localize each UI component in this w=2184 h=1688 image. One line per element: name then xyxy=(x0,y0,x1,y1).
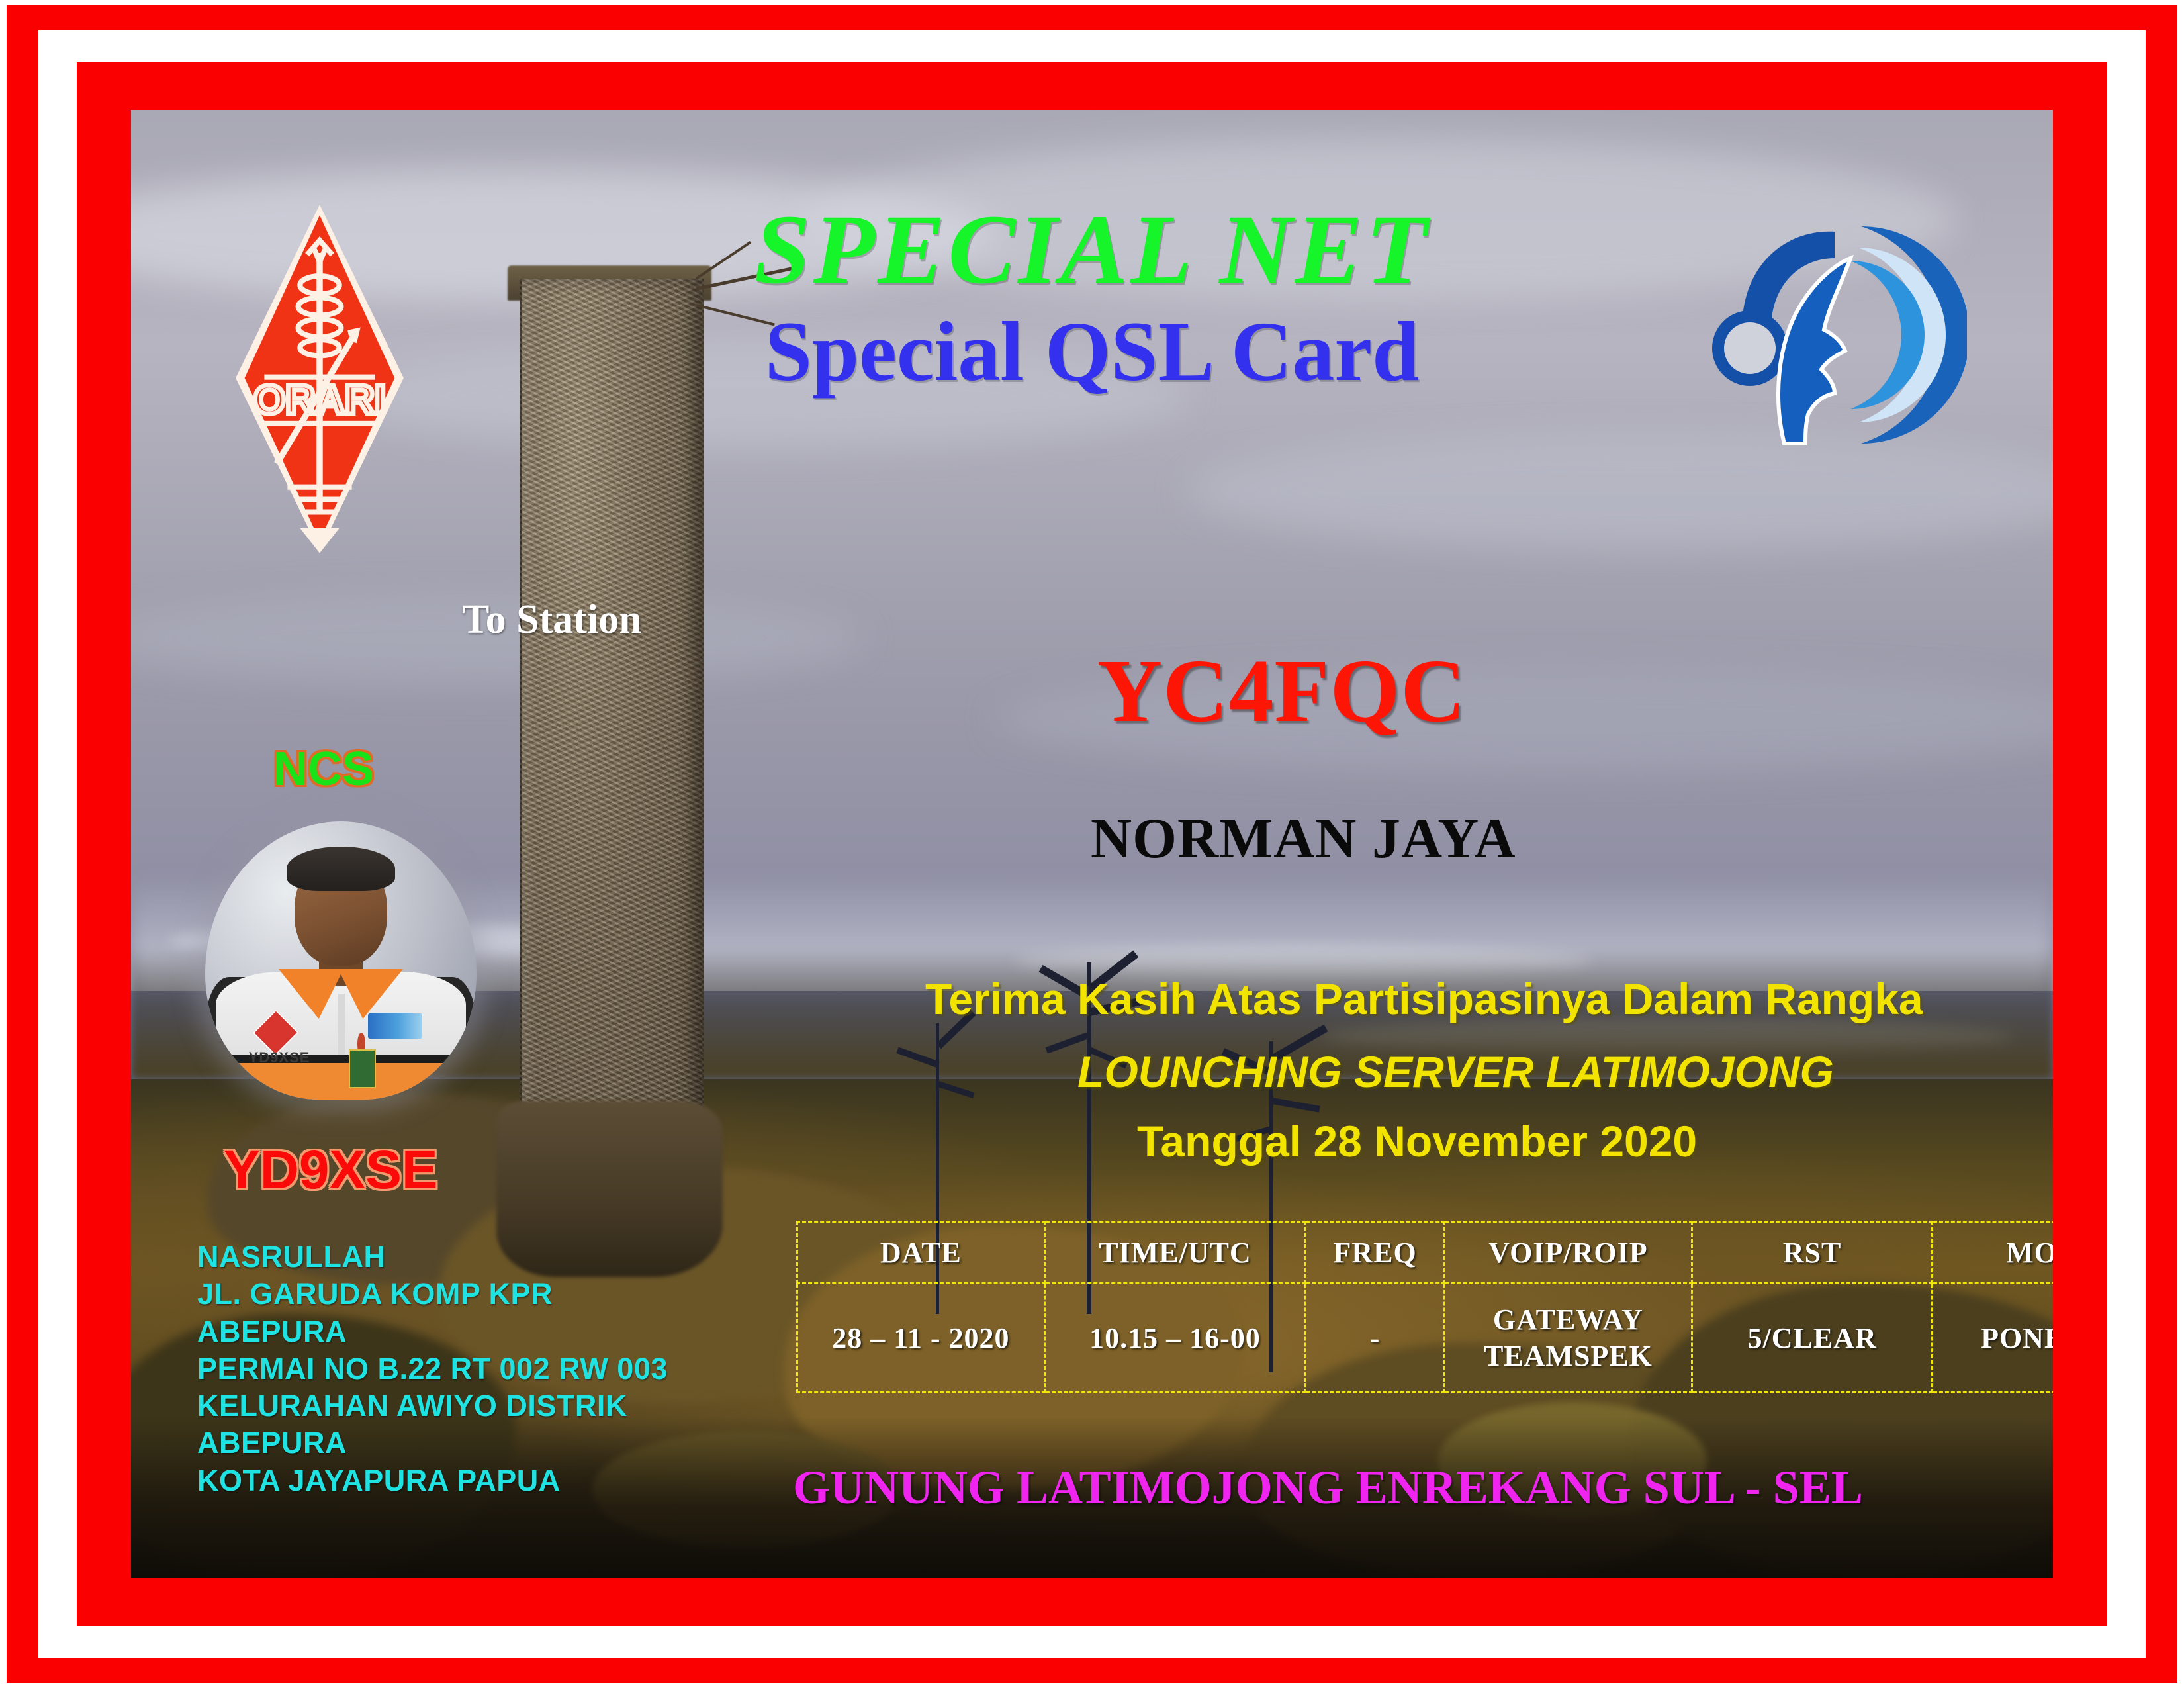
table-row: 28 – 11 - 2020 10.15 – 16-00 - GATEWAYTE… xyxy=(797,1284,2054,1393)
location-line: GUNUNG LATIMOJONG ENREKANG SUL - SEL xyxy=(131,1460,2053,1515)
address-line: NASRULLAH xyxy=(197,1239,780,1276)
portrait-shirt-callsign: YD9XSE xyxy=(249,1049,310,1066)
portrait-shirt-hem xyxy=(227,1063,455,1100)
cell-voip: GATEWAYTEAMSPEK xyxy=(1445,1284,1692,1393)
station-callsign: YC4FQC xyxy=(1097,639,1467,743)
column-header-mode: MODE xyxy=(1933,1222,2053,1284)
cell-rst: 5/CLEAR xyxy=(1692,1284,1933,1393)
stone-pillar xyxy=(520,279,704,1115)
column-header-voip: VOIP/ROIP xyxy=(1445,1222,1692,1284)
column-header-rst: RST xyxy=(1692,1222,1933,1284)
cell-time: 10.15 – 16-00 xyxy=(1044,1284,1305,1393)
thanks-line-1: Terima Kasih Atas Partisipasinya Dalam R… xyxy=(925,974,1923,1024)
column-header-freq: FREQ xyxy=(1306,1222,1445,1284)
address-line: ABEPURA xyxy=(197,1313,780,1350)
portrait-hair xyxy=(287,847,395,891)
operator-portrait: YD9XSE xyxy=(205,821,477,1100)
thanks-line-3: Tanggal 28 November 2020 xyxy=(1137,1116,1697,1166)
column-header-time: TIME/UTC xyxy=(1044,1222,1305,1284)
address-line: KELURAHAN AWIYO DISTRIK xyxy=(197,1387,780,1425)
ncs-callsign: YD9XSE xyxy=(224,1139,438,1201)
cell-mode: PONE/CW xyxy=(1933,1284,2053,1393)
ncs-label: NCS xyxy=(273,742,374,796)
page-title: SPECIAL NET xyxy=(131,193,2053,306)
column-header-date: DATE xyxy=(797,1222,1045,1284)
table-header-row: DATE TIME/UTC FREQ VOIP/ROIP RST MODE xyxy=(797,1222,2054,1284)
background-photograph: ORARI xyxy=(131,110,2053,1578)
address-line: JL. GARUDA KOMP KPR xyxy=(197,1276,780,1313)
portrait-shirt-logo xyxy=(368,1013,422,1039)
thanks-line-2: LOUNCHING SERVER LATIMOJONG xyxy=(1077,1047,1834,1097)
cell-date: 28 – 11 - 2020 xyxy=(797,1284,1045,1393)
card-frame-white-gap: ORARI xyxy=(38,30,2146,1658)
qsl-card: ORARI xyxy=(0,0,2184,1688)
page-subtitle: Special QSL Card xyxy=(131,303,2053,400)
qso-details-table: DATE TIME/UTC FREQ VOIP/ROIP RST MODE 28… xyxy=(796,1221,2053,1393)
card-frame-outer: ORARI xyxy=(7,5,2177,1683)
portrait-id-badge xyxy=(349,1049,376,1088)
address-line: ABEPURA xyxy=(197,1425,780,1462)
card-frame-inner: ORARI xyxy=(77,62,2107,1626)
operator-name: NORMAN JAYA xyxy=(1091,805,1516,871)
cell-freq: - xyxy=(1306,1284,1445,1393)
address-line: PERMAI NO B.22 RT 002 RW 003 xyxy=(197,1350,780,1387)
to-station-label: To Station xyxy=(462,596,642,643)
